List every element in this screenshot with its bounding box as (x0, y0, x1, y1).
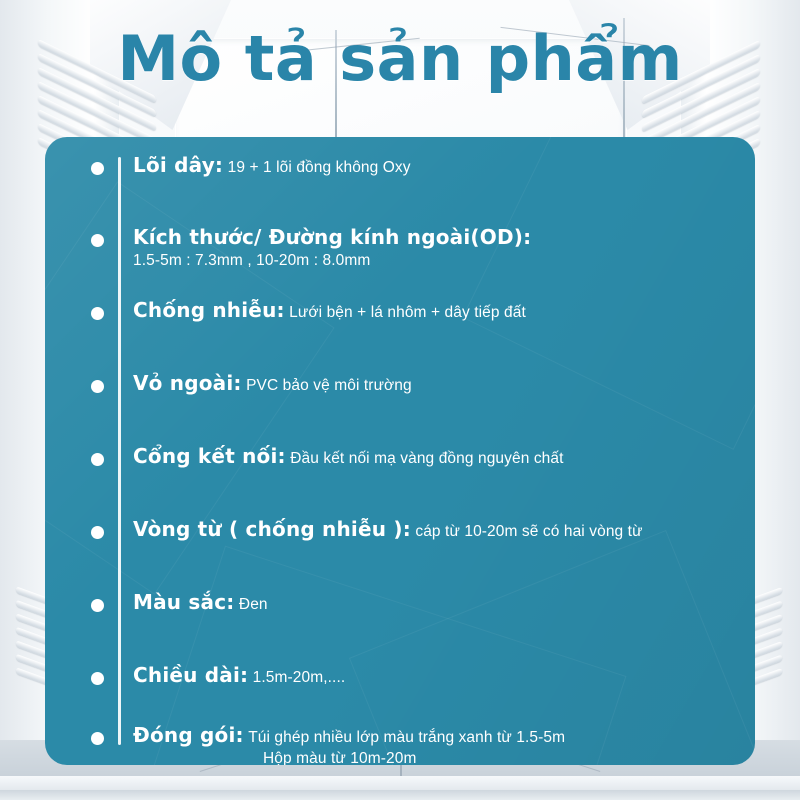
list-item-label: Cổng kết nối: (133, 444, 286, 468)
page-title: Mô tả sản phẩm (0, 26, 800, 91)
list-item-value: Đầu kết nối mạ vàng đồng nguyên chất (290, 450, 563, 467)
list-item-text: Cổng kết nối: Đầu kết nối mạ vàng đồng n… (133, 444, 741, 468)
list-item-value: PVC bảo vệ môi trường (246, 377, 412, 394)
list-item-label: Vỏ ngoài: (133, 371, 242, 395)
bullet-icon (91, 526, 104, 539)
list-item-value: Đen (239, 596, 268, 613)
list-item-subvalue: Hộp màu từ 10m-20m (263, 750, 741, 765)
bullet-icon (91, 599, 104, 612)
list-item-text: Chống nhiễu: Lưới bện + lá nhôm + dây ti… (133, 298, 741, 322)
list-item-text: Vòng từ ( chống nhiễu ): cáp từ 10-20m s… (133, 517, 741, 541)
floor-band-middle (0, 776, 800, 790)
list-item-value: 1.5m-20m,.... (253, 669, 346, 686)
list-item-label: Kích thước/ Đường kính ngoài(OD): (133, 225, 531, 249)
list-item-text: Chiều dài: 1.5m-20m,.... (133, 663, 741, 687)
list-item-label: Chiều dài: (133, 663, 248, 687)
bullet-icon (91, 732, 104, 745)
bullet-icon (91, 234, 104, 247)
bullet-icon (91, 162, 104, 175)
list-item-value: cáp từ 10-20m sẽ có hai vòng từ (415, 523, 642, 540)
bullet-icon (91, 672, 104, 685)
list-item-label: Đóng gói: (133, 723, 244, 747)
bullet-icon (91, 380, 104, 393)
list-item-text: Lõi dây: 19 + 1 lõi đồng không Oxy (133, 153, 741, 177)
list-item-text: Màu sắc: Đen (133, 590, 741, 614)
spec-panel: Lõi dây: 19 + 1 lõi đồng không Oxy Kích … (45, 137, 755, 765)
list-item-value: Túi ghép nhiều lớp màu trắng xanh từ 1.5… (248, 729, 565, 746)
list-item-label: Màu sắc: (133, 590, 234, 614)
list-item-label: Lõi dây: (133, 153, 223, 177)
list-item-text: Kích thước/ Đường kính ngoài(OD): 1.5-5m… (133, 225, 741, 270)
bullet-icon (91, 307, 104, 320)
list-item-value: Lưới bện + lá nhôm + dây tiếp đất (289, 304, 526, 321)
list-item-text: Vỏ ngoài: PVC bảo vệ môi trường (133, 371, 741, 395)
floor-band-lower (0, 790, 800, 800)
product-description-banner: Mô tả sản phẩm Lõi dây: 19 + 1 lõi đồng … (0, 0, 800, 800)
list-item-value: 19 + 1 lõi đồng không Oxy (228, 159, 411, 176)
bullet-icon (91, 453, 104, 466)
list-item-label: Chống nhiễu: (133, 298, 285, 322)
spec-list: Lõi dây: 19 + 1 lõi đồng không Oxy Kích … (45, 137, 755, 765)
list-item-subvalue: 1.5-5m : 7.3mm , 10-20m : 8.0mm (133, 252, 741, 270)
list-item-text: Đóng gói: Túi ghép nhiều lớp màu trắng x… (133, 723, 741, 765)
list-item-label: Vòng từ ( chống nhiễu ): (133, 517, 411, 541)
